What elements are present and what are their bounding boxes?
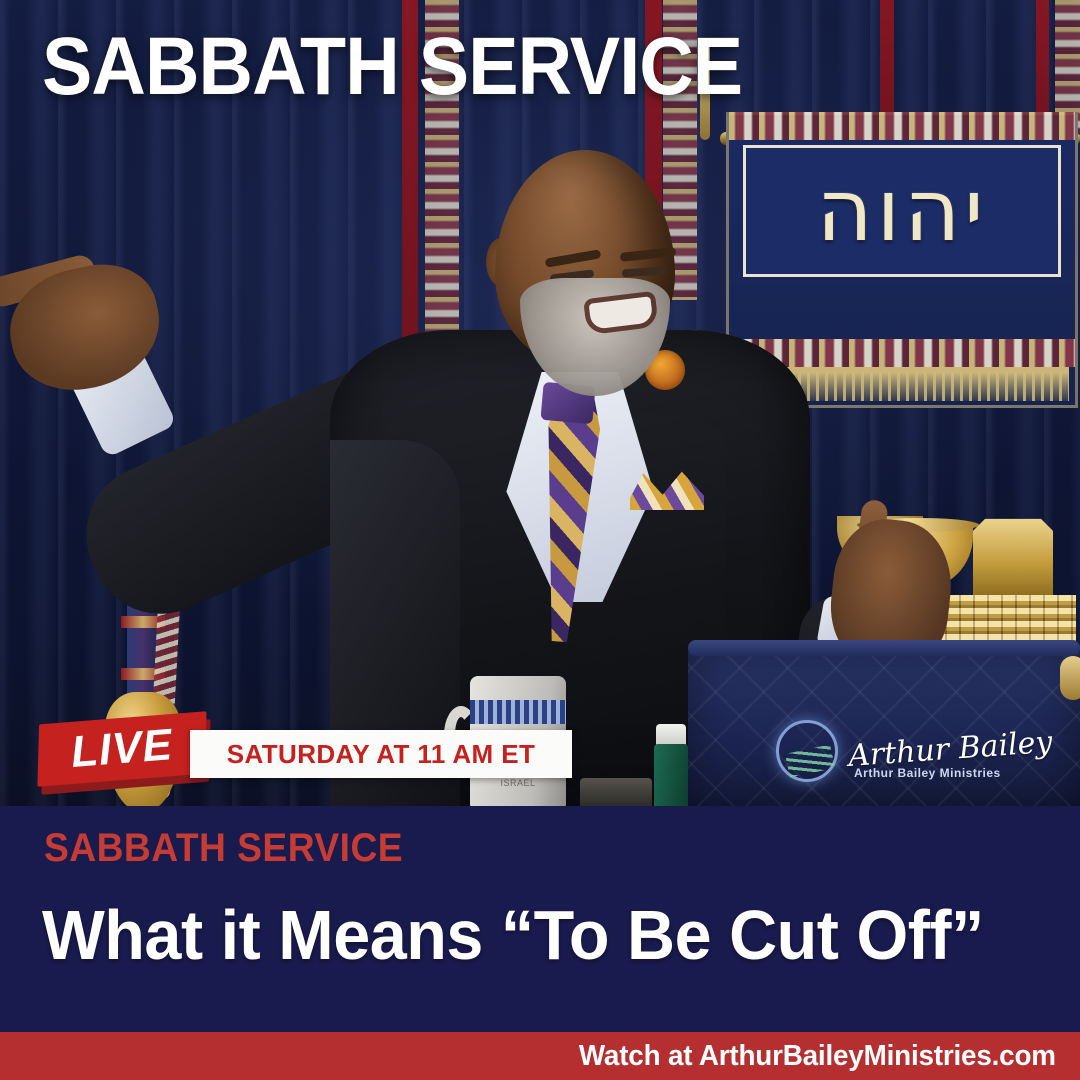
small-bottle [654, 744, 688, 810]
live-schedule-group: LIVE SATURDAY AT 11 AM ET [36, 712, 556, 794]
podium-top-edge [688, 640, 1080, 656]
panel-kicker: SABBATH SERVICE [44, 826, 403, 871]
watch-url-label: Watch at ArthurBaileyMinistries.com [579, 1040, 1056, 1073]
podium-side-roll [1060, 656, 1080, 700]
footer-bar: Watch at ArthurBaileyMinistries.com [0, 1032, 1080, 1080]
episode-title: What it Means “To Be Cut Off” [42, 900, 984, 970]
top-headline: SABBATH SERVICE [42, 26, 742, 108]
promo-graphic: יהוה [0, 0, 1080, 1080]
service-photo: יהוה [0, 0, 1080, 810]
schedule-banner: SATURDAY AT 11 AM ET [190, 730, 572, 778]
live-badge-label: LIVE [69, 720, 174, 778]
ministries-globe-emblem-icon [776, 720, 838, 782]
schedule-label: SATURDAY AT 11 AM ET [227, 739, 536, 770]
podium-cover: Arthur Bailey Arthur Bailey Ministries [688, 648, 1080, 810]
title-panel: SABBATH SERVICE What it Means “To Be Cut… [0, 806, 1080, 1032]
live-badge: LIVE [37, 711, 206, 787]
podium-subtitle-text: Arthur Bailey Ministries [854, 766, 1001, 780]
